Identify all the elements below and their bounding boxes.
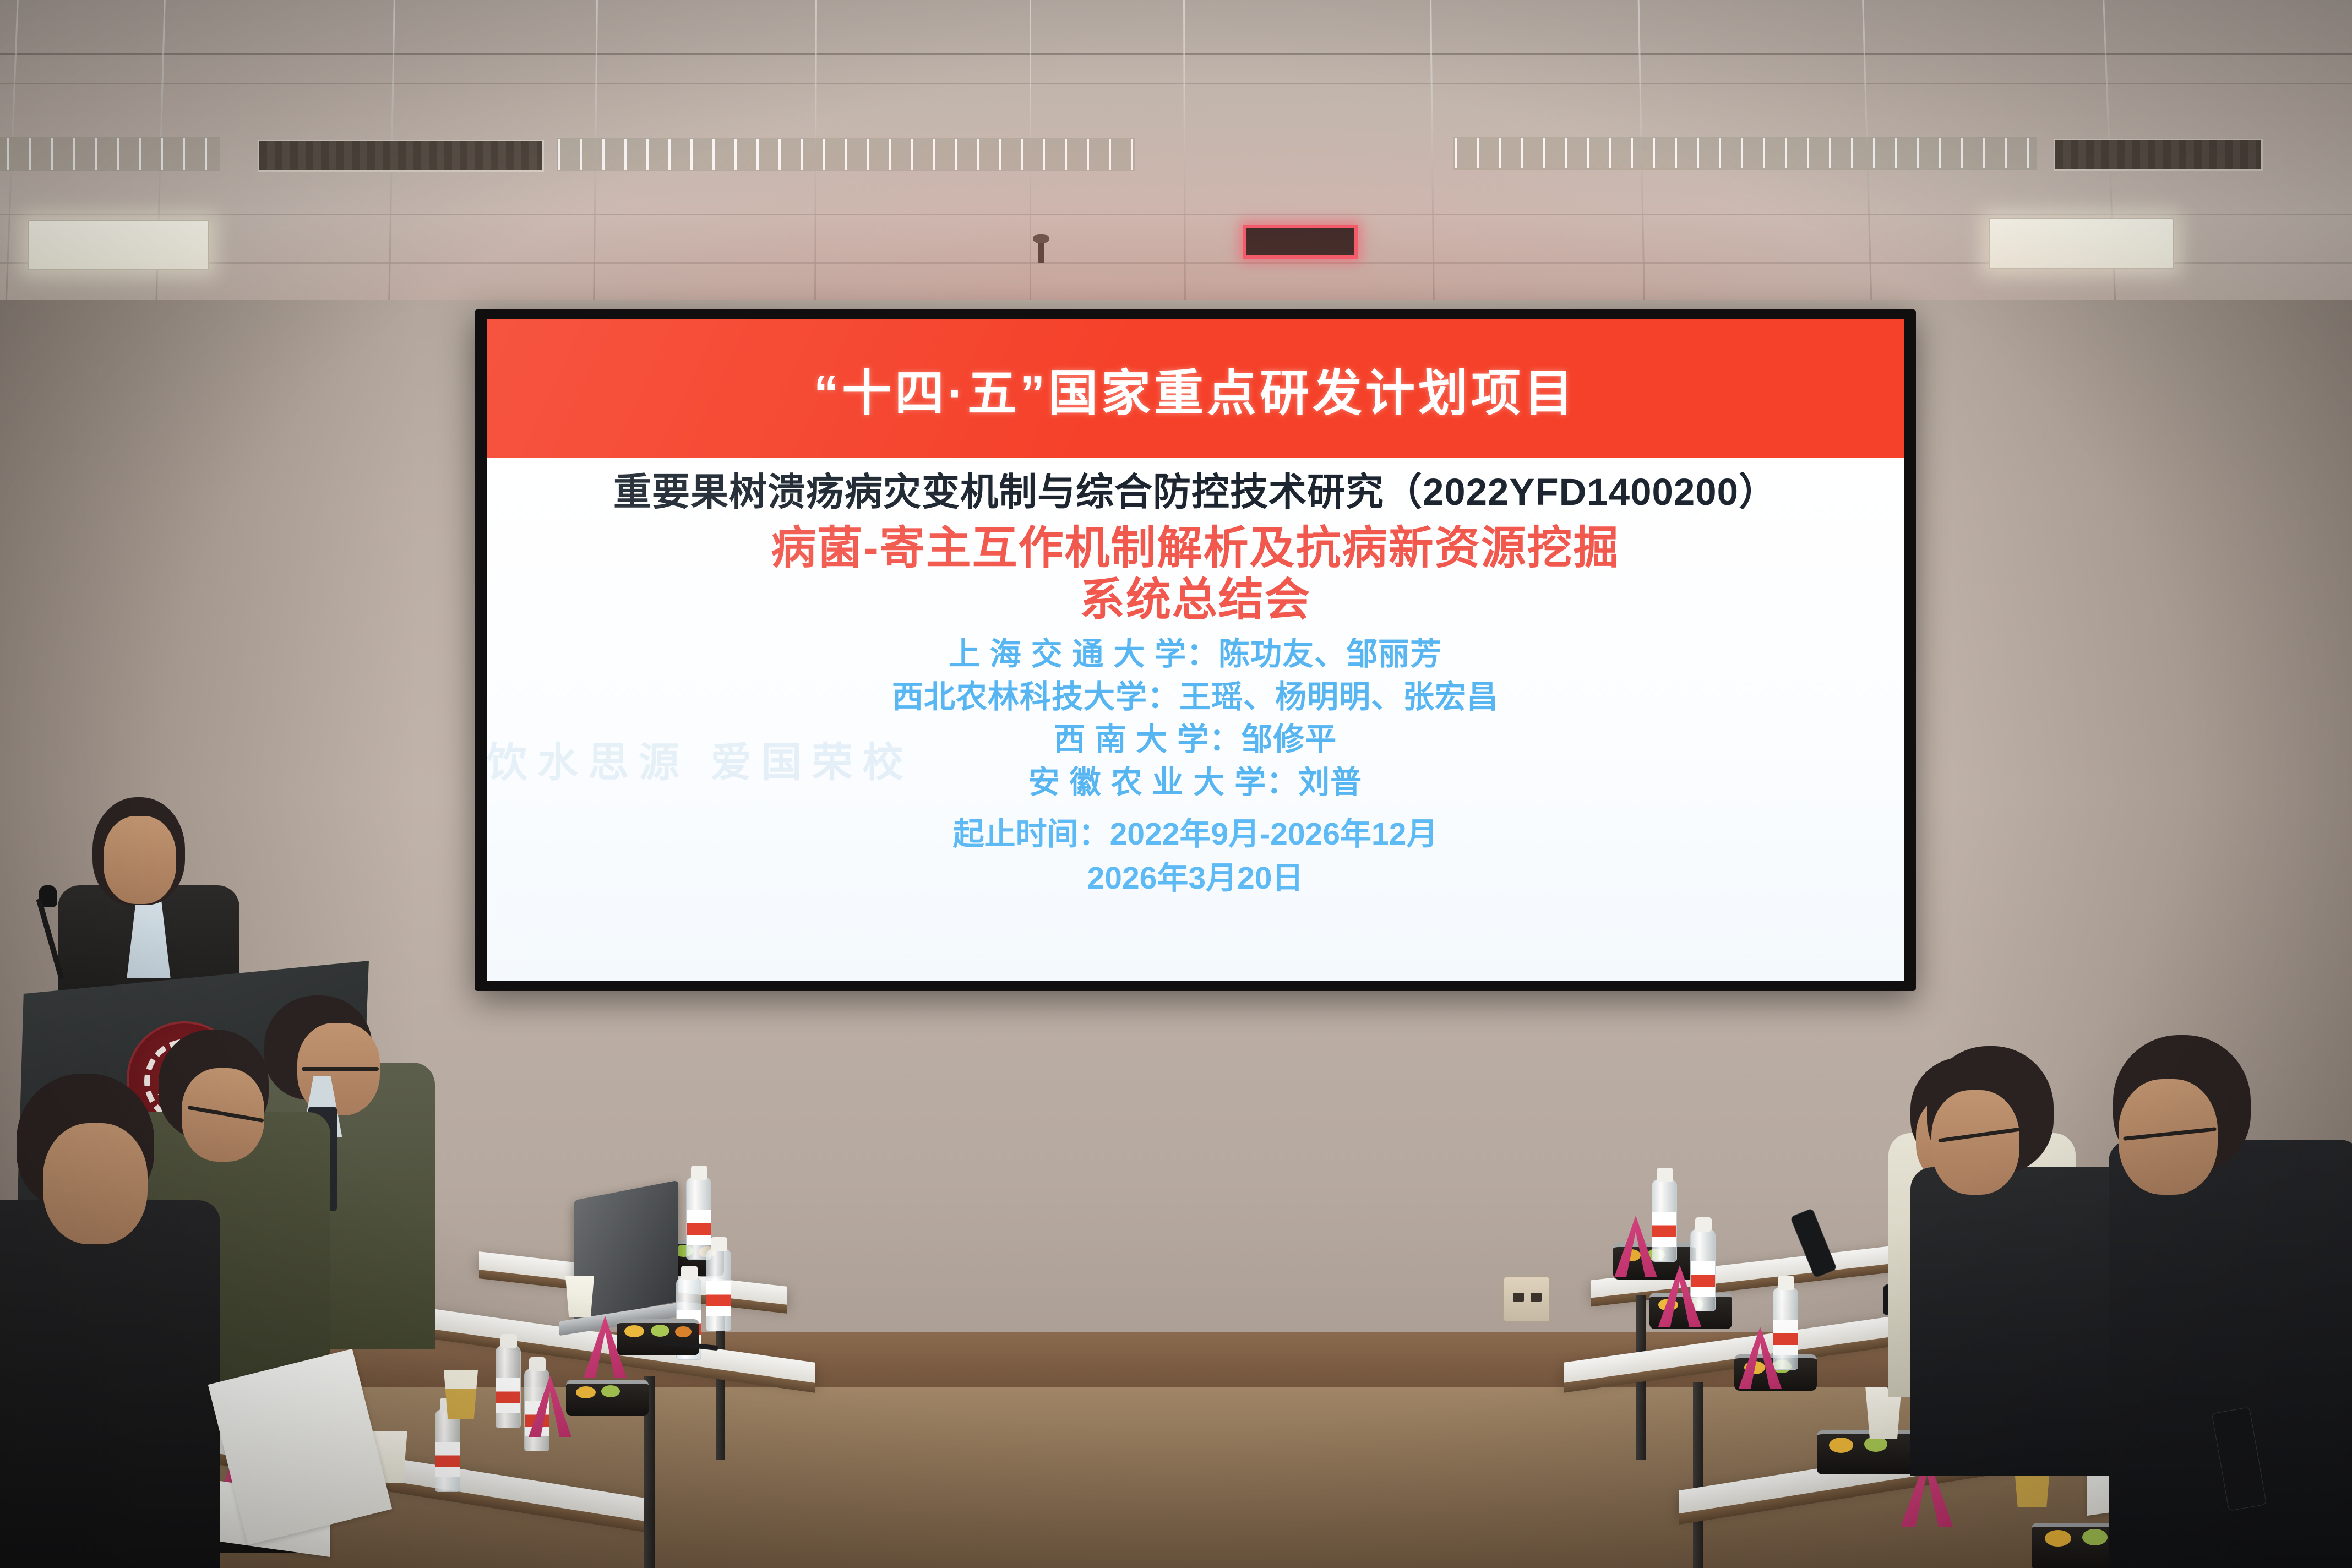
organization-line: 上 海 交 通 大 学：陈功友、邹丽芳 — [487, 633, 1904, 676]
organization-line: 西北农林科技大学：王瑶、杨明明、张宏昌 — [487, 676, 1904, 719]
slide-title-line1: 病菌-寄主互作机制解析及抗病新资源挖掘 — [487, 522, 1904, 574]
fruit-snack-box — [1817, 1430, 1921, 1474]
fruit-snack-box — [566, 1380, 649, 1416]
organization-line: 西 南 大 学：邹修平 — [487, 718, 1904, 761]
organization-line: 安 徽 农 业 大 学：刘普 — [487, 761, 1904, 804]
projection-screen-frame: “十四·五”国家重点研发计划项目 重要果树溃疡病灾变机制与综合防控技术研究（20… — [475, 309, 1916, 991]
conference-room-photo: “十四·五”国家重点研发计划项目 重要果树溃疡病灾变机制与综合防控技术研究（20… — [0, 0, 2352, 1568]
attendee-face — [1931, 1090, 2019, 1195]
slide-title-line2: 系统总结会 — [487, 574, 1904, 625]
slide-organization-list: 上 海 交 通 大 学：陈功友、邹丽芳 西北农林科技大学：王瑶、杨明明、张宏昌 … — [487, 633, 1904, 804]
water-bottle — [435, 1409, 460, 1492]
speaker-face — [104, 816, 176, 904]
water-bottle — [1690, 1229, 1716, 1311]
slide-duration: 起止时间：2022年9月-2026年12月 — [487, 813, 1904, 857]
ceiling — [0, 0, 2352, 308]
water-bottle — [686, 1177, 711, 1260]
slide-banner: “十四·五”国家重点研发计划项目 — [487, 319, 1904, 458]
water-bottle — [496, 1346, 521, 1428]
presentation-slide: “十四·五”国家重点研发计划项目 重要果树溃疡病灾变机制与综合防控技术研究（20… — [487, 319, 1904, 981]
water-bottle — [706, 1249, 731, 1331]
fruit-snack-box — [617, 1319, 699, 1355]
attendee-torso — [0, 1200, 220, 1568]
slide-body: 重要果树溃疡病灾变机制与综合防控技术研究（2022YFD1400200） 病菌-… — [487, 458, 1904, 981]
water-bottle — [1773, 1287, 1798, 1370]
wall-outlet[interactable] — [1503, 1276, 1550, 1322]
glasses-icon — [302, 1067, 379, 1071]
slide-banner-text: “十四·五”国家重点研发计划项目 — [814, 353, 1577, 424]
water-bottle — [1652, 1179, 1677, 1262]
attendee-face — [43, 1123, 148, 1244]
slide-subtitle: 重要果树溃疡病灾变机制与综合防控技术研究（2022YFD1400200） — [487, 470, 1904, 514]
attendee-torso — [1910, 1167, 2142, 1476]
table-leg — [1693, 1382, 1703, 1568]
slide-date: 2026年3月20日 — [487, 857, 1904, 901]
